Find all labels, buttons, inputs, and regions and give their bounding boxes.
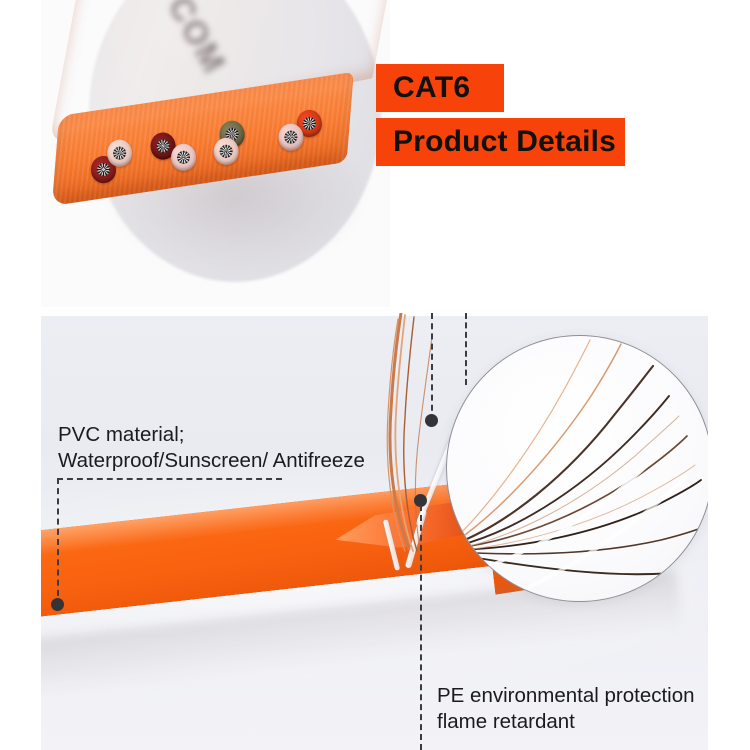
twisted-pair — [87, 134, 144, 187]
cat6-cable-photo: COM — [41, 0, 390, 307]
twisted-pair — [149, 125, 206, 178]
filler-leader-vertical — [431, 313, 433, 421]
product-details-banner-label: Product Details — [393, 125, 616, 159]
panel-divider — [41, 313, 708, 316]
twisted-pair — [272, 108, 329, 161]
cat6-banner-label: CAT6 — [393, 71, 470, 105]
filler-leader-dot — [425, 414, 438, 427]
cat6-banner: CAT6 — [376, 64, 504, 112]
pvc-leader-dot — [51, 598, 64, 611]
conductor — [170, 142, 198, 172]
pvc-material-annotation: PVC material; Waterproof/Sunscreen/ Anti… — [58, 422, 365, 474]
twisted-pair-group — [87, 107, 336, 187]
twisted-pair — [210, 117, 267, 170]
magnified-copper-strands — [447, 336, 708, 601]
pe-leader-vertical — [420, 505, 422, 750]
pvc-leader-horizontal — [57, 478, 282, 480]
magnifier-circle — [446, 335, 708, 602]
pvc-leader-vertical — [57, 478, 59, 606]
pe-flame-retardant-annotation: PE environmental protection flame retard… — [437, 683, 695, 735]
product-detail-page: COM — [0, 0, 750, 750]
top-photo-panel: COM — [41, 0, 390, 307]
product-details-banner: Product Details — [376, 118, 625, 166]
magnifier-leader-vertical — [465, 313, 467, 385]
